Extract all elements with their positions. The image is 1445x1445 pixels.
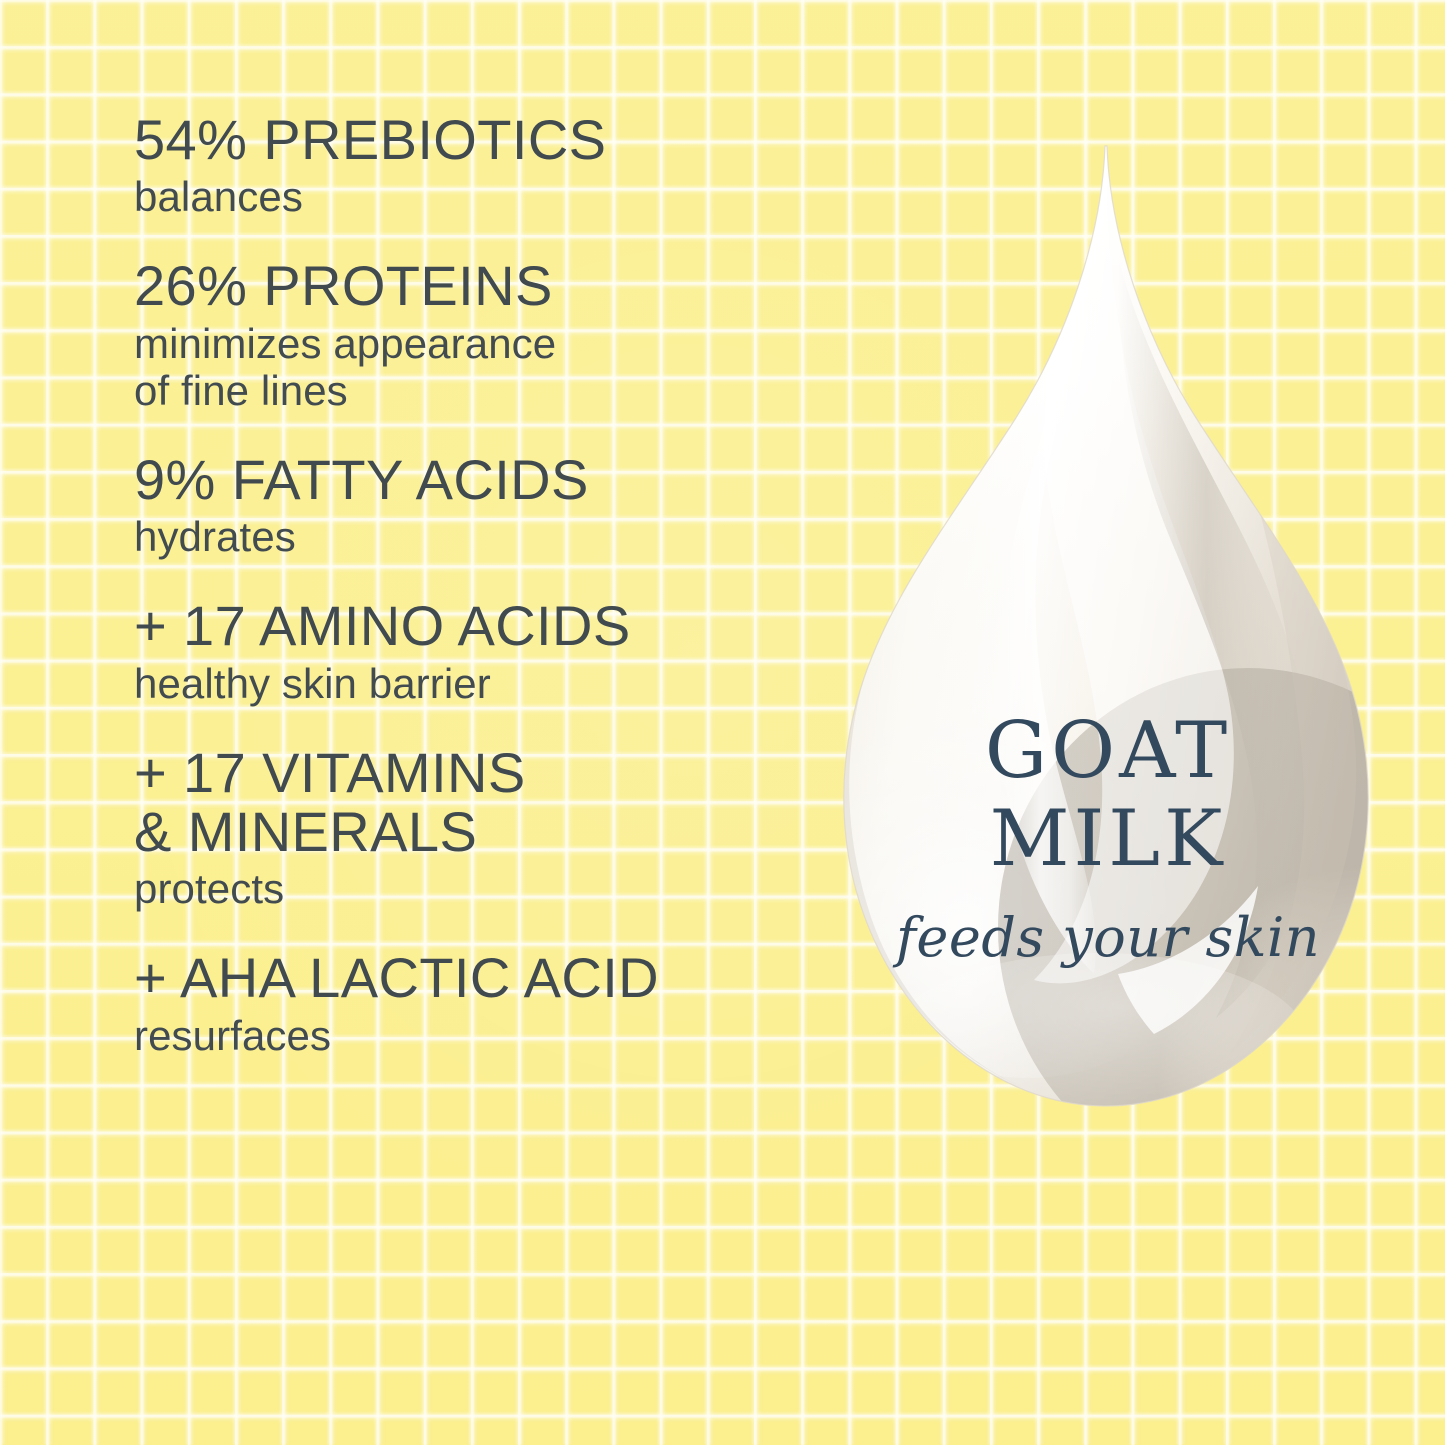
ingredient-benefit: healthy skin barrier [134,660,814,707]
droplet-icon [818,138,1398,1168]
ingredient-item-prebiotics: 54% PREBIOTICS balances [134,110,814,220]
ingredient-list: 54% PREBIOTICS balances 26% PROTEINS min… [134,110,814,1095]
ingredient-item-amino-acids: + 17 AMINO ACIDS healthy skin barrier [134,596,814,706]
ingredient-headline: 54% PREBIOTICS [134,110,814,169]
droplet-body [818,138,1398,1168]
ingredient-item-vitamins-minerals: + 17 VITAMINS & MINERALS protects [134,743,814,913]
ingredient-item-proteins: 26% PROTEINS minimizes appearance of fin… [134,256,814,413]
ingredient-headline: 9% FATTY ACIDS [134,450,814,509]
ingredient-item-aha-lactic-acid: + AHA LACTIC ACID resurfaces [134,948,814,1058]
ingredient-item-fatty-acids: 9% FATTY ACIDS hydrates [134,450,814,560]
ingredient-headline: + 17 AMINO ACIDS [134,596,814,655]
ingredient-benefit: resurfaces [134,1012,814,1059]
ingredient-headline: 26% PROTEINS [134,256,814,315]
ingredient-benefit: protects [134,865,814,912]
milk-droplet-graphic: GOAT MILK feeds your skin [818,138,1398,1168]
ingredient-benefit: hydrates [134,513,814,560]
ingredient-benefit: balances [134,173,814,220]
ingredient-headline: + AHA LACTIC ACID [134,948,814,1007]
infographic-canvas: 54% PREBIOTICS balances 26% PROTEINS min… [0,0,1445,1445]
ingredient-headline: + 17 VITAMINS & MINERALS [134,743,814,862]
ingredient-benefit: minimizes appearance of fine lines [134,320,814,414]
